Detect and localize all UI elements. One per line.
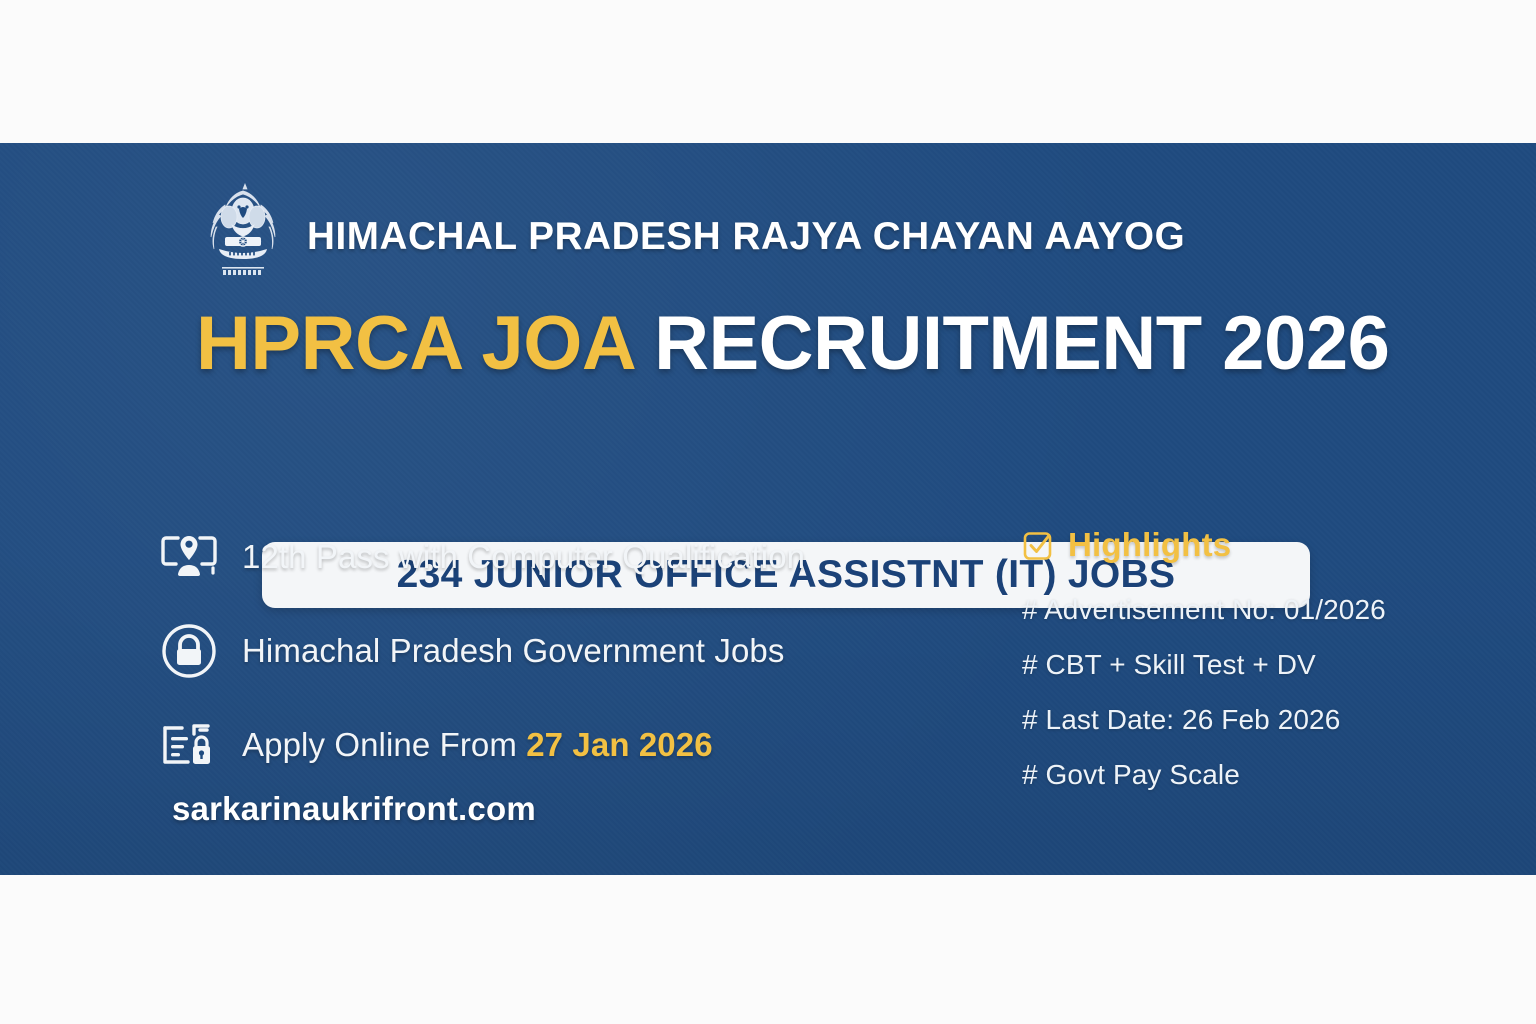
feature-date-highlight: 27 Jan 2026 <box>526 726 712 763</box>
feature-label-apply-online: Apply Online From 27 Jan 2026 <box>242 726 713 764</box>
headline-main: RECRUITMENT 2026 <box>654 301 1389 386</box>
organization-title: HIMACHAL PRADESH RAJYA CHAYAN AAYOG <box>307 217 1185 256</box>
feature-item-qualification: 12th Pass with Computer Qualification <box>158 526 805 588</box>
feature-label-qualification: 12th Pass with Computer Qualification <box>242 538 805 576</box>
highlight-item: # Last Date: 26 Feb 2026 <box>1022 704 1386 736</box>
page-title: HPRCA JOA RECRUITMENT 2026 <box>196 306 1389 382</box>
feature-text-1: Himachal Pradesh Government Jobs <box>242 632 784 669</box>
lock-circle-icon <box>158 622 220 680</box>
organization-header: HIMACHAL PRADESH RAJYA CHAYAN AAYOG <box>205 181 1194 291</box>
checkbox-checked-icon <box>1022 529 1055 562</box>
feature-text-0: 12th Pass with Computer Qualification <box>242 538 805 575</box>
feature-item-government-jobs: Himachal Pradesh Government Jobs <box>158 620 805 682</box>
highlights-header: Highlights <box>1022 526 1386 564</box>
highlights-title: Highlights <box>1068 526 1231 564</box>
highlight-item: # CBT + Skill Test + DV <box>1022 649 1386 681</box>
feature-list: 12th Pass with Computer Qualification Hi… <box>158 526 805 776</box>
highlight-item: # Advertisement No: 01/2026 <box>1022 594 1386 626</box>
highlights-panel: Highlights # Advertisement No: 01/2026 #… <box>1022 526 1386 791</box>
feature-label-government-jobs: Himachal Pradesh Government Jobs <box>242 632 784 670</box>
feature-text-2: Apply Online From <box>242 726 526 763</box>
india-national-emblem-icon <box>205 181 281 291</box>
highlight-item: # Govt Pay Scale <box>1022 759 1386 791</box>
headline-accent: HPRCA JOA <box>196 301 654 386</box>
application-form-lock-icon <box>158 716 220 774</box>
poster-canvas: HIMACHAL PRADESH RAJYA CHAYAN AAYOG HPRC… <box>0 0 1536 1024</box>
feature-item-apply-online: Apply Online From 27 Jan 2026 <box>158 714 805 776</box>
recruitment-banner: HIMACHAL PRADESH RAJYA CHAYAN AAYOG HPRC… <box>0 143 1536 875</box>
website-url[interactable]: sarkarinaukrifront.com <box>172 790 536 828</box>
computer-qualification-icon <box>158 528 220 586</box>
